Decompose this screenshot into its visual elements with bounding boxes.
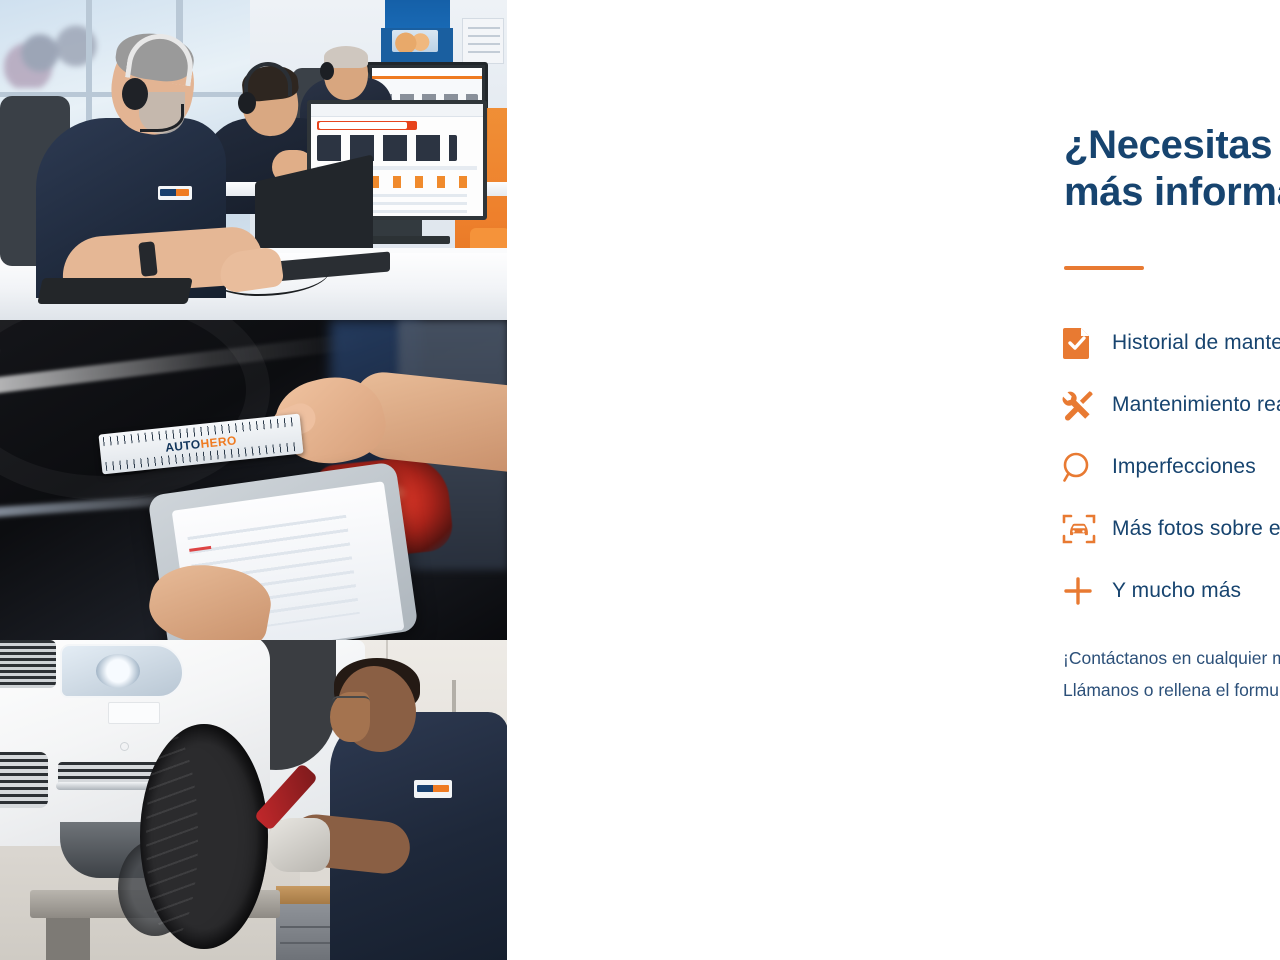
feature-list: Historial de mantenimientos Mantenimient… <box>1062 312 1280 622</box>
car-scan-icon <box>1062 513 1112 545</box>
promo-page: AUTOHERO <box>0 0 1280 960</box>
contact-line-1: ¡Contáctanos en cualquier momento para m… <box>1063 642 1280 674</box>
contact-text: ¡Contáctanos en cualquier momento para m… <box>1063 642 1280 707</box>
page-title-line2: más información? <box>1064 169 1280 216</box>
list-item-label: Imperfecciones <box>1112 455 1256 479</box>
car-inspection-ruler-photo: AUTOHERO <box>0 320 507 640</box>
magnifier-icon <box>1062 451 1112 483</box>
mechanic-wheel-photo <box>0 640 507 960</box>
contact-line-2: Llámanos o rellena el formulario de cont… <box>1063 674 1280 706</box>
call-center-agents-photo <box>0 0 507 320</box>
checklist-icon <box>1062 326 1112 360</box>
list-item: Imperfecciones <box>1062 436 1280 498</box>
list-item-label: Historial de mantenimientos <box>1112 331 1280 355</box>
tools-icon <box>1062 388 1112 422</box>
title-divider <box>1064 266 1144 270</box>
list-item: Más fotos sobre el coche <box>1062 498 1280 560</box>
content-panel: ¿Necesitas más información? Historial de… <box>507 0 1280 960</box>
list-item: Mantenimiento realizado <box>1062 374 1280 436</box>
list-item: Historial de mantenimientos <box>1062 312 1280 374</box>
plus-icon <box>1062 575 1112 607</box>
page-title-line1: ¿Necesitas <box>1064 123 1272 167</box>
list-item-label: Y mucho más <box>1112 579 1241 603</box>
list-item: Y mucho más <box>1062 560 1280 622</box>
list-item-label: Mantenimiento realizado <box>1112 393 1280 417</box>
photo-column: AUTOHERO <box>0 0 507 960</box>
list-item-label: Más fotos sobre el coche <box>1112 517 1280 541</box>
page-title: ¿Necesitas más información? <box>1064 122 1280 216</box>
